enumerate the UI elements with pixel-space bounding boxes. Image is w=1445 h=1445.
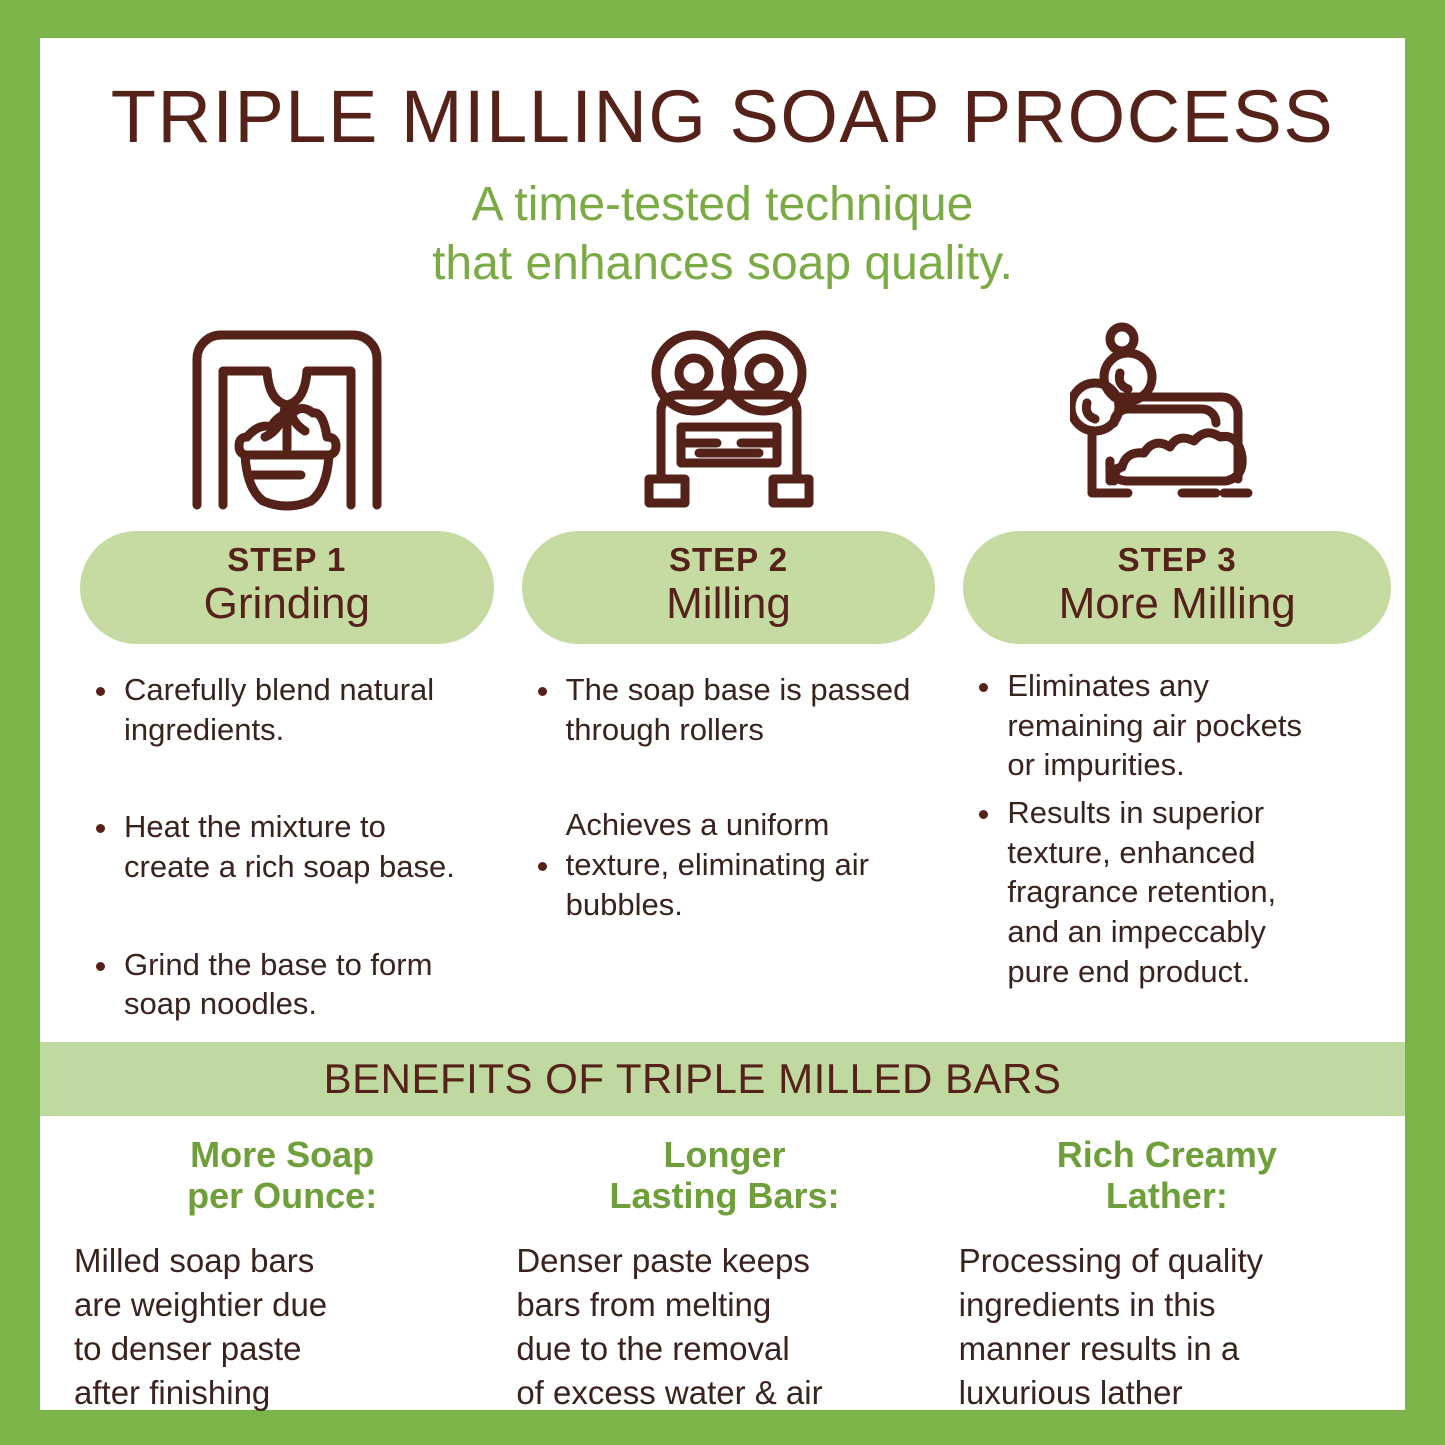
bullet-line: Eliminates any [1007, 666, 1381, 706]
page-title: TRIPLE MILLING SOAP PROCESS [40, 38, 1405, 154]
step-number-label: STEP 2 [532, 543, 926, 578]
step-number-label: STEP 3 [973, 543, 1381, 578]
benefit-body-line: bars from melting [516, 1283, 940, 1327]
step-name-label: Grinding [90, 579, 484, 628]
bullet-line: remaining air pockets [1007, 706, 1381, 746]
step-column-3: STEP 3 More Milling Eliminates any remai… [949, 319, 1391, 1024]
benefit-body-line: manner results in a [959, 1327, 1383, 1371]
bullet-line: Results in superior [1007, 793, 1381, 833]
list-item: Carefully blend natural ingredients. [90, 670, 498, 749]
step-name-label: More Milling [973, 579, 1381, 628]
bullet-dot-icon [538, 862, 547, 871]
benefit-heading-line: Longer [526, 1134, 922, 1175]
bullet-dot-icon [96, 962, 105, 971]
benefit-body-line: Denser paste keeps [516, 1239, 940, 1283]
list-item: The soap base is passed through rollers [532, 670, 940, 749]
bullet-line: pure end product. [1007, 952, 1381, 992]
step-pill-1: STEP 1 Grinding [80, 531, 494, 644]
step-pill-3: STEP 3 More Milling [963, 531, 1391, 644]
list-item: Results in superior texture, enhanced fr… [973, 793, 1381, 991]
benefit-heading-line: Lather: [969, 1175, 1365, 1216]
benefit-column-1: More Soap per Ounce: Milled soap bars ar… [66, 1134, 508, 1416]
benefit-column-2: Longer Lasting Bars: Denser paste keeps … [508, 1134, 950, 1416]
grinder-bowl-icon [66, 319, 508, 519]
soap-bar-bubbles-icon [949, 319, 1391, 519]
benefit-body-line: of excess water & air [516, 1371, 940, 1415]
bullet-line: Achieves a uniform [566, 805, 940, 845]
infographic-poster: TRIPLE MILLING SOAP PROCESS A time-teste… [0, 0, 1445, 1445]
benefit-column-3: Rich Creamy Lather: Processing of qualit… [951, 1134, 1393, 1416]
bullet-line: create a rich soap base. [124, 847, 498, 887]
bullet-line: and an impeccably [1007, 912, 1381, 952]
benefit-body-line: Processing of quality [959, 1239, 1383, 1283]
benefit-heading-line: More Soap [84, 1134, 480, 1175]
step-name-label: Milling [532, 579, 926, 628]
bullet-line: The soap base is passed [566, 670, 940, 710]
benefit-body-line: are weightier due [74, 1283, 498, 1327]
benefit-body-line: after finishing [74, 1371, 498, 1415]
benefits-banner: BENEFITS OF TRIPLE MILLED BARS [40, 1042, 1405, 1116]
list-item: Heat the mixture to create a rich soap b… [90, 807, 498, 886]
benefit-heading: Longer Lasting Bars: [508, 1134, 940, 1217]
benefit-body: Denser paste keeps bars from melting due… [508, 1239, 940, 1416]
benefit-body-line: luxurious lather [959, 1371, 1383, 1415]
benefits-banner-title: BENEFITS OF TRIPLE MILLED BARS [324, 1055, 1122, 1103]
bullet-dot-icon [979, 810, 988, 819]
step-3-bullet-list: Eliminates any remaining air pockets or … [949, 666, 1391, 991]
page-subtitle: A time-tested technique that enhances so… [40, 176, 1405, 293]
bullet-line: bubbles. [566, 885, 940, 925]
benefit-heading: More Soap per Ounce: [66, 1134, 498, 1217]
subtitle-line-2: that enhances soap quality. [40, 235, 1405, 294]
bullet-line: texture, eliminating air [566, 845, 940, 885]
step-column-1: STEP 1 Grinding Carefully blend natural … [66, 319, 508, 1024]
bullet-line: ingredients. [124, 710, 498, 750]
benefit-heading-line: Lasting Bars: [526, 1175, 922, 1216]
step-pill-2: STEP 2 Milling [522, 531, 936, 644]
benefit-heading: Rich Creamy Lather: [951, 1134, 1383, 1217]
bullet-line: Carefully blend natural [124, 670, 498, 710]
bullet-dot-icon [96, 687, 105, 696]
benefits-row: More Soap per Ounce: Milled soap bars ar… [40, 1116, 1405, 1416]
step-column-2: STEP 2 Milling The soap base is passed t… [508, 319, 950, 1024]
bullet-line: fragrance retention, [1007, 872, 1381, 912]
benefit-body: Milled soap bars are weightier due to de… [66, 1239, 498, 1416]
bullet-dot-icon [538, 687, 547, 696]
steps-row: STEP 1 Grinding Carefully blend natural … [40, 319, 1405, 1024]
bullet-dot-icon [96, 824, 105, 833]
bullet-line: soap noodles. [124, 984, 498, 1024]
subtitle-line-1: A time-tested technique [40, 176, 1405, 235]
list-item: Achieves a uniform texture, eliminating … [532, 805, 940, 924]
step-2-bullet-list: The soap base is passed through rollers … [508, 670, 950, 924]
poster-inner-panel: TRIPLE MILLING SOAP PROCESS A time-teste… [40, 38, 1405, 1410]
benefit-body-line: ingredients in this [959, 1283, 1383, 1327]
benefit-body-line: to denser paste [74, 1327, 498, 1371]
bullet-line: texture, enhanced [1007, 833, 1381, 873]
bullet-line: through rollers [566, 710, 940, 750]
step-number-label: STEP 1 [90, 543, 484, 578]
list-item: Eliminates any remaining air pockets or … [973, 666, 1381, 785]
roller-mill-icon [508, 319, 950, 519]
bullet-line: Grind the base to form [124, 945, 498, 985]
bullet-dot-icon [979, 683, 988, 692]
list-item: Grind the base to form soap noodles. [90, 945, 498, 1024]
benefit-heading-line: Rich Creamy [969, 1134, 1365, 1175]
step-1-bullet-list: Carefully blend natural ingredients. Hea… [66, 670, 508, 1024]
benefit-body-line: Milled soap bars [74, 1239, 498, 1283]
benefit-heading-line: per Ounce: [84, 1175, 480, 1216]
bullet-line: or impurities. [1007, 745, 1381, 785]
benefit-body: Processing of quality ingredients in thi… [951, 1239, 1383, 1416]
benefit-body-line: due to the removal [516, 1327, 940, 1371]
bullet-line: Heat the mixture to [124, 807, 498, 847]
